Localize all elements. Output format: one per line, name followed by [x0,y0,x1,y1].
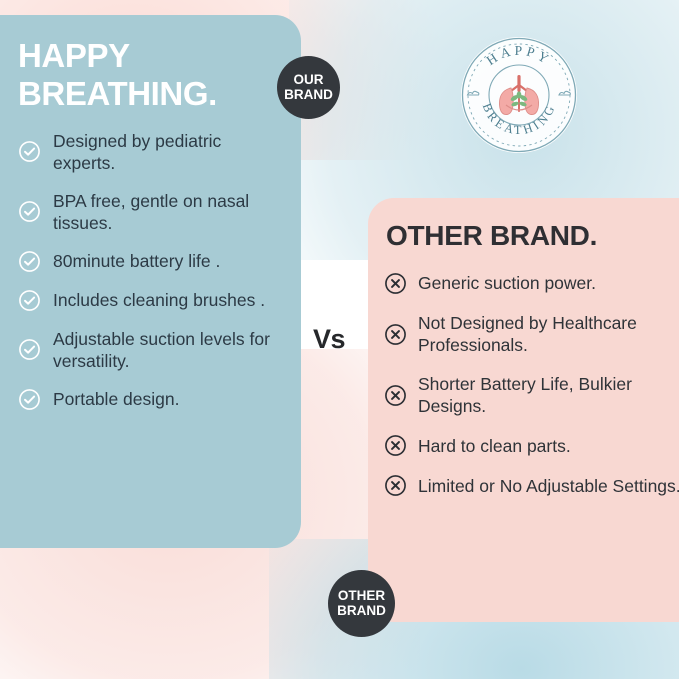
list-item: Designed by pediatric experts. [18,130,283,174]
check-circle-icon [18,140,41,163]
check-circle-icon [18,289,41,312]
other-brand-panel: OTHER BRAND. Generic suction power. [368,198,679,622]
other-brand-drawback-text: Limited or No Adjustable Settings. [418,475,679,497]
list-item: Shorter Battery Life, Bulkier Designs. [384,373,679,417]
check-circle-icon [18,250,41,273]
our-brand-badge: OUR BRAND [277,56,340,119]
our-brand-badge-line1: OUR [294,73,324,88]
x-circle-icon [384,434,407,457]
other-brand-headline: OTHER BRAND. [386,220,679,252]
list-item: Hard to clean parts. [384,434,679,457]
x-circle-icon [384,474,407,497]
other-brand-badge-line2: BRAND [337,604,386,619]
other-brand-drawback-text: Generic suction power. [418,272,596,294]
list-item: 80minute battery life . [18,250,283,273]
list-item: Portable design. [18,388,283,411]
other-brand-drawback-list: Generic suction power. Not Designed by H… [384,272,679,497]
our-brand-feature-text: Portable design. [53,388,179,410]
our-brand-headline: HAPPY BREATHING. [18,37,283,114]
brand-logo-svg: HAPPY BREATHING [459,35,579,155]
our-brand-panel: HAPPY BREATHING. Designed by pediatric e… [0,15,301,548]
list-item: BPA free, gentle on nasal tissues. [18,190,283,234]
check-circle-icon [18,388,41,411]
our-brand-feature-text: Includes cleaning brushes . [53,289,265,311]
list-item: Adjustable suction levels for versatilit… [18,328,283,372]
our-brand-headline-line1: HAPPY [18,37,130,74]
x-circle-icon [384,323,407,346]
our-brand-feature-text: Adjustable suction levels for versatilit… [53,328,283,372]
list-item: Not Designed by Healthcare Professionals… [384,312,679,356]
check-circle-icon [18,338,41,361]
check-circle-icon [18,200,41,223]
our-brand-feature-text: BPA free, gentle on nasal tissues. [53,190,283,234]
versus-label: Vs [313,324,345,355]
our-brand-headline-line2: BREATHING. [18,75,283,113]
x-circle-icon [384,384,407,407]
our-brand-badge-line2: BRAND [284,88,333,103]
other-brand-badge-line1: OTHER [338,589,385,604]
other-brand-drawback-text: Hard to clean parts. [418,435,571,457]
list-item: Limited or No Adjustable Settings. [384,474,679,497]
our-brand-feature-text: Designed by pediatric experts. [53,130,283,174]
our-brand-feature-text: 80minute battery life . [53,250,220,272]
brand-logo: HAPPY BREATHING [459,35,579,155]
x-circle-icon [384,272,407,295]
other-brand-badge: OTHER BRAND [328,570,395,637]
infographic-canvas: HAPPY BREATHING. Designed by pediatric e… [0,0,679,679]
list-item: Generic suction power. [384,272,679,295]
other-brand-drawback-text: Shorter Battery Life, Bulkier Designs. [418,373,679,417]
list-item: Includes cleaning brushes . [18,289,283,312]
other-brand-drawback-text: Not Designed by Healthcare Professionals… [418,312,679,356]
our-brand-feature-list: Designed by pediatric experts. BPA free,… [18,130,283,411]
